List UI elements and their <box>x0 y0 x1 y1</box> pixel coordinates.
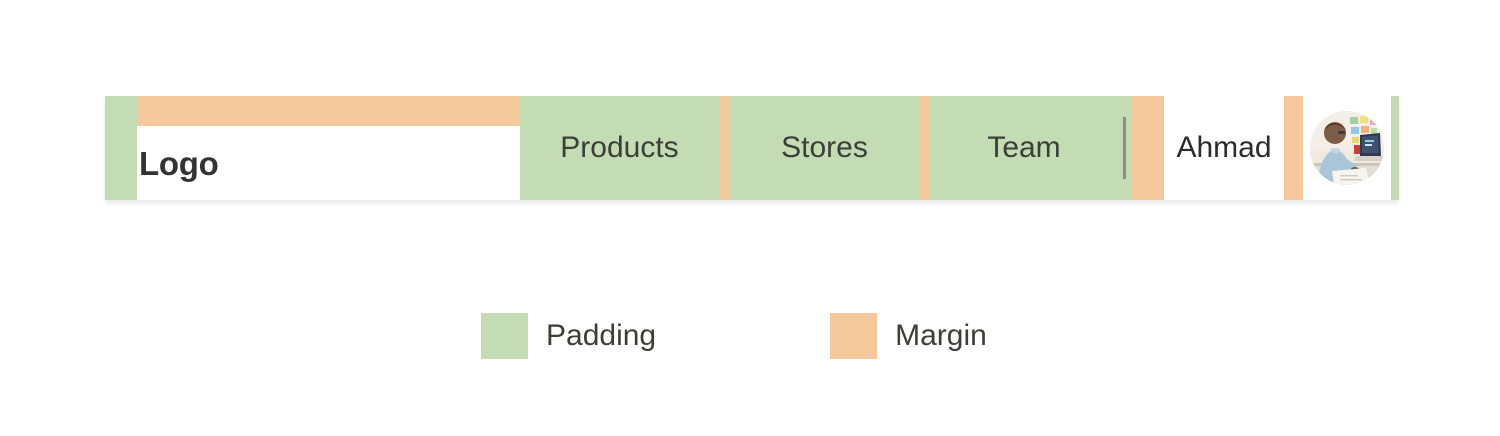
legend-item-margin: Margin <box>830 313 987 359</box>
brand-logo-label: Logo <box>139 147 218 180</box>
padding-region-right <box>1391 96 1399 200</box>
nav-link-team[interactable]: Team <box>930 96 1118 200</box>
legend-label-padding: Padding <box>546 319 656 353</box>
nav-link-stores-label: Stores <box>781 131 868 165</box>
navbar-box-model-diagram: Logo Products Stores Team Ahmad <box>105 96 1399 200</box>
padding-region-left <box>105 96 137 200</box>
legend-item-padding: Padding <box>481 313 656 359</box>
avatar[interactable] <box>1310 111 1384 185</box>
vertical-divider-line <box>1123 117 1126 179</box>
nav-user-separator <box>1118 96 1131 200</box>
brand-logo-group[interactable]: Logo <box>137 96 520 200</box>
brand-logo-content-box[interactable]: Logo <box>137 126 520 200</box>
margin-region-stores-team <box>920 96 930 200</box>
nav-link-products-label: Products <box>560 131 678 165</box>
margin-region-before-username <box>1131 96 1164 200</box>
nav-link-stores[interactable]: Stores <box>729 96 920 200</box>
legend-label-margin: Margin <box>895 319 987 353</box>
legend-swatch-padding <box>481 313 528 359</box>
legend-swatch-margin <box>830 313 877 359</box>
user-name-box[interactable]: Ahmad <box>1164 96 1284 200</box>
nav-link-products[interactable]: Products <box>520 96 719 200</box>
user-avatar-box[interactable] <box>1303 96 1391 200</box>
user-name-label: Ahmad <box>1176 131 1271 165</box>
nav-link-team-label: Team <box>987 131 1060 165</box>
avatar-photo-icon <box>1310 111 1384 185</box>
margin-region-products-stores <box>719 96 729 200</box>
legend: Padding Margin <box>481 313 987 359</box>
margin-region-before-avatar <box>1284 96 1303 200</box>
